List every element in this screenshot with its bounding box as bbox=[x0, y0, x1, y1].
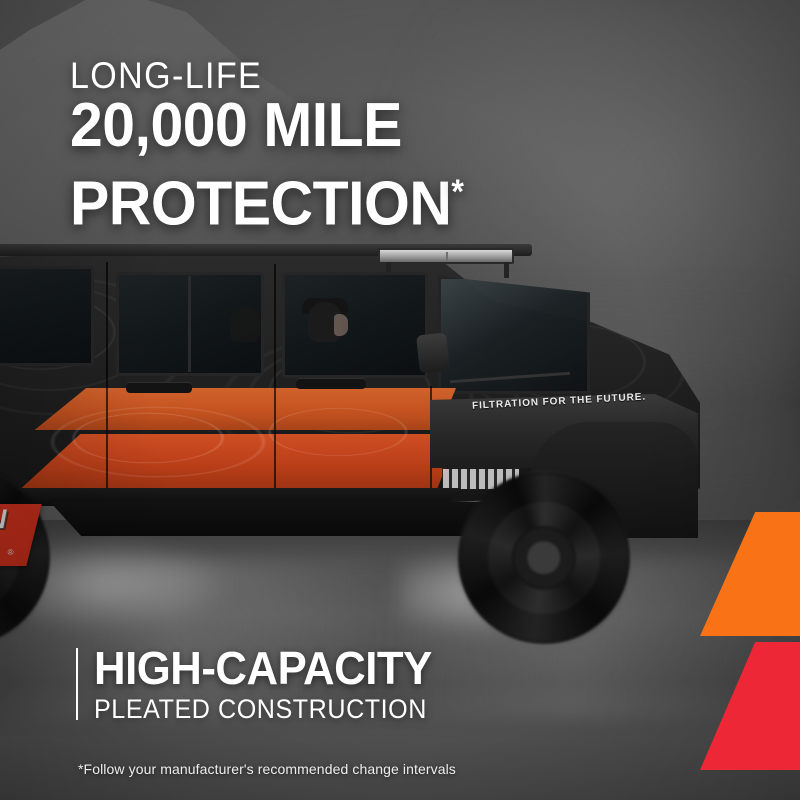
headline-block: LONG-LIFE 20,000 MILE PROTECTION* bbox=[70, 56, 730, 235]
headline-eyebrow: LONG-LIFE bbox=[70, 56, 677, 96]
feature-title: HIGH-CAPACITY bbox=[94, 644, 647, 692]
asterisk-marker: * bbox=[451, 173, 464, 211]
headline-line-1: 20,000 MILE bbox=[70, 96, 697, 156]
headline-line-2-text: PROTECTION bbox=[70, 170, 451, 239]
vertical-accent-rule bbox=[76, 648, 78, 720]
feature-callout-block: HIGH-CAPACITY PLEATED CONSTRUCTION bbox=[76, 644, 676, 724]
advertisement-canvas: FILTRATION FOR THE FUTURE. K&N ® LONG-LI… bbox=[0, 0, 800, 800]
feature-callout-text: HIGH-CAPACITY PLEATED CONSTRUCTION bbox=[94, 644, 676, 724]
headline-line-2: PROTECTION* bbox=[70, 162, 697, 235]
footnote-disclaimer: *Follow your manufacturer's recommended … bbox=[78, 760, 456, 778]
feature-subtitle: PLEATED CONSTRUCTION bbox=[94, 694, 635, 724]
